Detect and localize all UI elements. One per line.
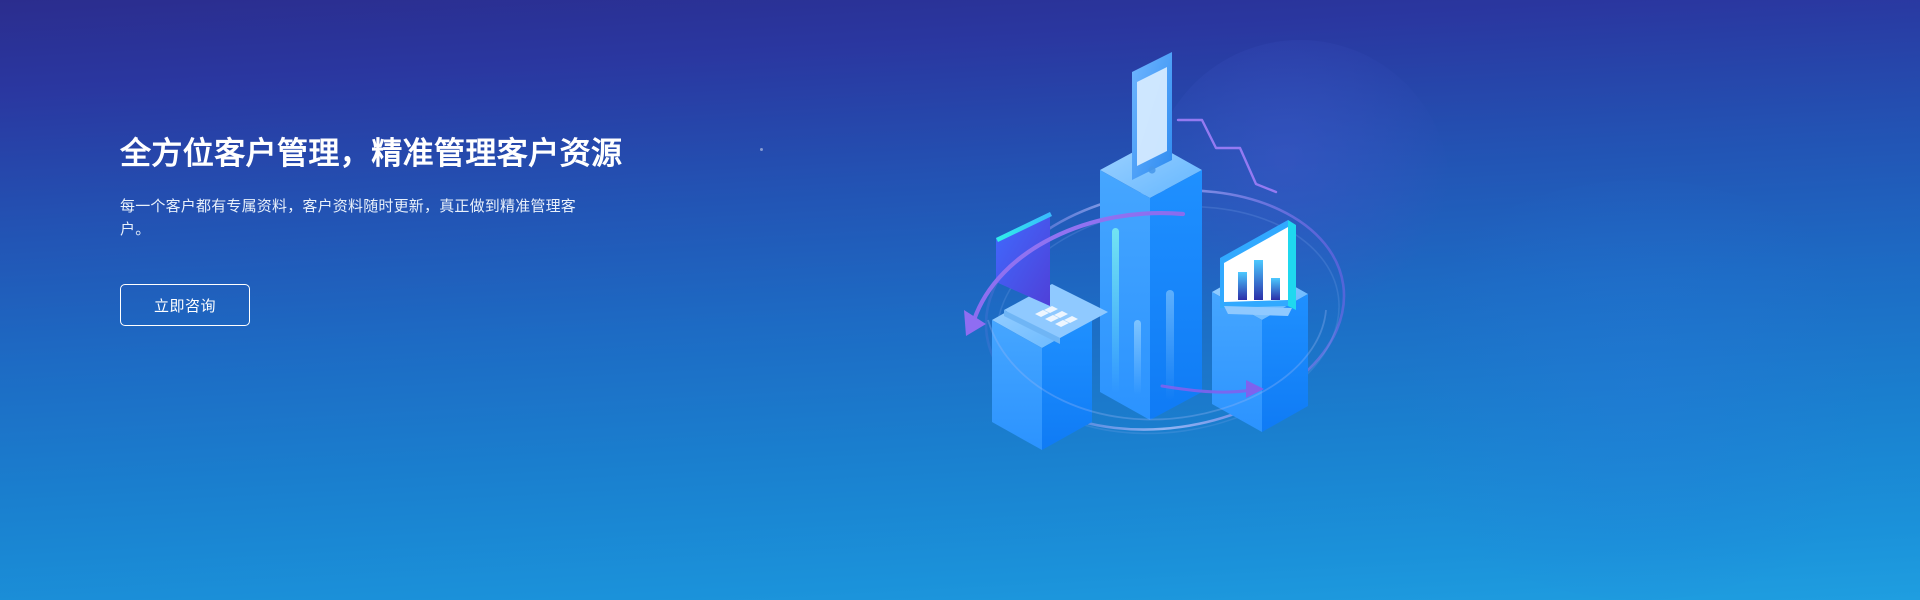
consult-now-button[interactable]: 立即咨询 bbox=[120, 284, 250, 326]
hero-illustration bbox=[940, 20, 1360, 580]
decor-blob-right bbox=[1380, 180, 1900, 600]
pillar-center bbox=[1100, 142, 1202, 420]
decor-speck bbox=[760, 148, 763, 151]
tablet bbox=[1132, 52, 1172, 180]
page-title: 全方位客户管理，精准管理客户资源 bbox=[120, 132, 740, 176]
chart-screen bbox=[1220, 220, 1296, 316]
hero-banner: 全方位客户管理，精准管理客户资源 每一个客户都有专属资料，客户资料随时更新，真正… bbox=[0, 0, 1920, 600]
hero-subtitle: 每一个客户都有专属资料，客户资料随时更新，真正做到精准管理客户。 bbox=[120, 176, 598, 241]
hero-copy: 全方位客户管理，精准管理客户资源 每一个客户都有专属资料，客户资料随时更新，真正… bbox=[120, 132, 740, 326]
